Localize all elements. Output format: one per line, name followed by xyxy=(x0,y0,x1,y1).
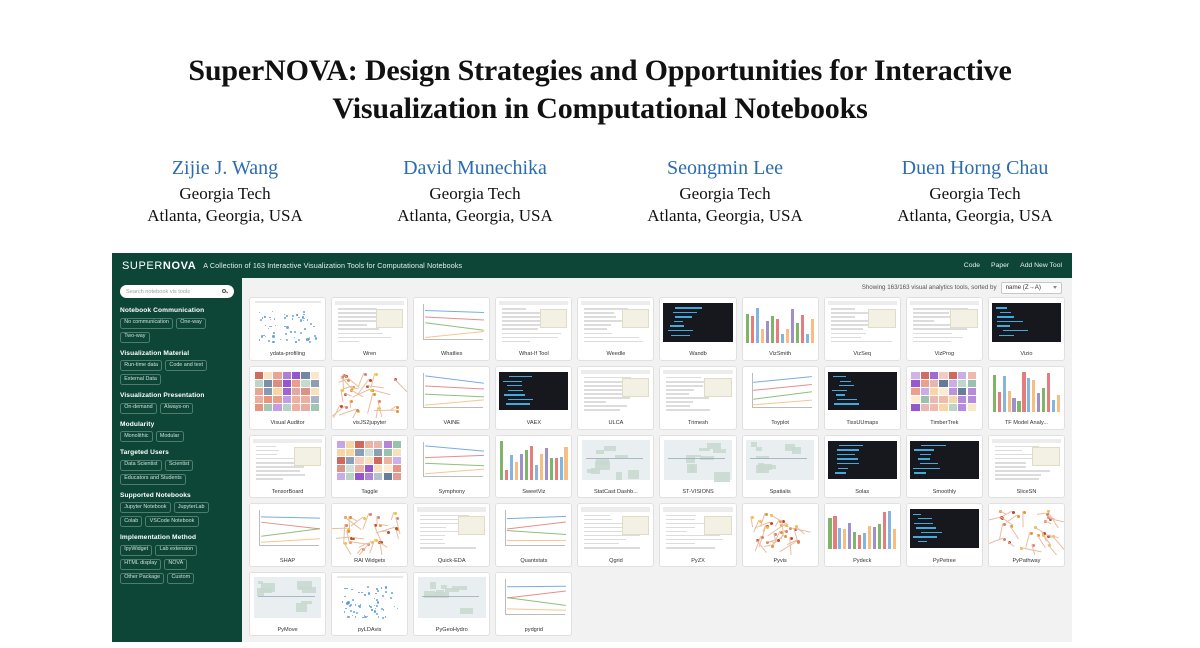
tool-card[interactable]: pyLDAvis xyxy=(331,572,408,636)
tool-card[interactable]: Trimesh xyxy=(659,366,736,430)
tool-thumbnail xyxy=(332,436,407,487)
tool-thumbnail xyxy=(496,504,571,555)
tool-card-label: What-If Tool xyxy=(496,349,571,360)
filter-group-title: Implementation Method xyxy=(120,534,234,541)
tool-card[interactable]: Quick-EDA xyxy=(413,503,490,567)
tool-card[interactable]: Wren xyxy=(331,297,408,361)
tool-card-label: Wren xyxy=(332,349,407,360)
tool-card-label: StatCast Dashb... xyxy=(578,486,653,497)
tool-card-label: TensorBoard xyxy=(250,486,325,497)
tool-thumbnail-wrap xyxy=(496,436,571,487)
tool-card-label: TissUUmaps xyxy=(825,418,900,429)
filter-group-title: Modularity xyxy=(120,421,234,428)
tool-thumbnail xyxy=(414,367,489,418)
app-tagline: A Collection of 163 Interactive Visualiz… xyxy=(203,261,462,270)
tool-card[interactable]: VizSmith xyxy=(742,297,819,361)
tool-card[interactable]: VizProg xyxy=(906,297,983,361)
filter-chip-list: Jupyter NotebookJupyterLabColabVSCode No… xyxy=(120,502,234,527)
tool-card[interactable]: ydata-profiling xyxy=(249,297,326,361)
author-block: David Munechika Georgia Tech Atlanta, Ge… xyxy=(350,155,600,227)
tool-thumbnail xyxy=(989,367,1064,418)
header-link-code[interactable]: Code xyxy=(964,262,980,269)
tool-thumbnail xyxy=(989,436,1064,487)
filter-chip[interactable]: Scientist xyxy=(165,460,194,471)
tool-card[interactable]: TimberTrek xyxy=(906,366,983,430)
filter-group: Visualization MaterialRun-time dataCode … xyxy=(120,350,234,386)
tool-card-label: visJS2jupyter xyxy=(332,418,407,429)
logo-nova: NOVA xyxy=(163,260,196,272)
tool-card[interactable]: Qgrid xyxy=(577,503,654,567)
tool-thumbnail-wrap xyxy=(332,573,407,624)
tool-card-label: PyZX xyxy=(660,555,735,566)
tool-thumbnail-wrap xyxy=(907,298,982,349)
tool-thumbnail xyxy=(743,367,818,418)
author-block: Zijie J. Wang Georgia Tech Atlanta, Geor… xyxy=(100,155,350,227)
tool-thumbnail-wrap xyxy=(250,298,325,349)
app-header: SUPERNOVA A Collection of 163 Interactiv… xyxy=(112,253,1072,278)
tool-thumbnail-wrap xyxy=(496,298,571,349)
tool-card-label: ydata-profiling xyxy=(250,349,325,360)
author-affiliation: Georgia Tech xyxy=(850,183,1100,205)
filter-group: Targeted UsersData ScientistScientistEdu… xyxy=(120,449,234,485)
filter-chip[interactable]: Monolithic xyxy=(120,431,153,442)
tool-thumbnail xyxy=(660,367,735,418)
tool-thumbnail-wrap xyxy=(743,504,818,555)
author-location: Atlanta, Georgia, USA xyxy=(100,205,350,227)
tool-card[interactable]: PyPetree xyxy=(906,503,983,567)
author-name: David Munechika xyxy=(350,155,600,182)
filter-chip[interactable]: Data Scientist xyxy=(120,460,162,471)
tool-card-label: PyPathway xyxy=(989,555,1064,566)
filter-group-title: Visualization Material xyxy=(120,350,234,357)
tool-card-label: VAINE xyxy=(414,418,489,429)
tool-thumbnail xyxy=(578,504,653,555)
tool-card-label: SliceSN xyxy=(989,486,1064,497)
tool-card[interactable]: Pydeck xyxy=(824,503,901,567)
tool-card[interactable]: Visual Auditor xyxy=(249,366,326,430)
tool-thumbnail-wrap xyxy=(578,504,653,555)
tool-thumbnail xyxy=(250,367,325,418)
tool-card[interactable]: Vizio xyxy=(988,297,1065,361)
tool-thumbnail xyxy=(496,298,571,349)
tool-card[interactable]: ULCA xyxy=(577,366,654,430)
filter-group-title: Supported Notebooks xyxy=(120,492,234,499)
tool-card-label: Spatialis xyxy=(743,486,818,497)
filter-group-title: Visualization Presentation xyxy=(120,392,234,399)
paper-header: SuperNOVA: Design Strategies and Opportu… xyxy=(0,0,1200,227)
tool-card[interactable]: TensorBoard xyxy=(249,435,326,499)
tool-thumbnail xyxy=(743,504,818,555)
tool-card[interactable]: Toyplot xyxy=(742,366,819,430)
tool-thumbnail xyxy=(825,436,900,487)
logo-super: SUPER xyxy=(122,260,163,272)
tool-thumbnail-wrap xyxy=(989,436,1064,487)
filter-chip[interactable]: Jupyter Notebook xyxy=(120,502,171,513)
tool-thumbnail xyxy=(414,573,489,624)
tool-card-label: Weedle xyxy=(578,349,653,360)
filter-sidebar: Search notebook vis tools Notebook Commu… xyxy=(112,278,242,642)
tool-card-label: Trimesh xyxy=(660,418,735,429)
tool-card[interactable]: TF Model Analy... xyxy=(988,366,1065,430)
tool-card[interactable]: PyMove xyxy=(249,572,326,636)
tool-card-label: VizSmith xyxy=(743,349,818,360)
filter-group-title: Notebook Communication xyxy=(120,307,234,314)
tool-card[interactable]: Weedle xyxy=(577,297,654,361)
tool-thumbnail xyxy=(332,504,407,555)
tool-card[interactable]: PyPathway xyxy=(988,503,1065,567)
tool-thumbnail-wrap xyxy=(825,436,900,487)
tool-thumbnail xyxy=(578,367,653,418)
filter-chip-list: On-demandAlways-on xyxy=(120,403,234,414)
tool-thumbnail-wrap xyxy=(332,436,407,487)
header-links: Code Paper Add New Tool xyxy=(964,262,1062,269)
tool-thumbnail xyxy=(743,298,818,349)
filter-chip[interactable]: Educators and Students xyxy=(120,474,186,485)
tool-thumbnail-wrap xyxy=(414,436,489,487)
tool-card-label: Taggle xyxy=(332,486,407,497)
author-affiliation: Georgia Tech xyxy=(350,183,600,205)
tool-thumbnail xyxy=(250,504,325,555)
tool-card[interactable]: ST-VISIONS xyxy=(659,435,736,499)
tool-thumbnail xyxy=(578,298,653,349)
tool-thumbnail-wrap xyxy=(578,367,653,418)
tool-thumbnail-wrap xyxy=(907,436,982,487)
tool-thumbnail-wrap xyxy=(250,573,325,624)
tool-thumbnail xyxy=(825,367,900,418)
tool-card[interactable]: SweetViz xyxy=(495,435,572,499)
sort-select[interactable]: name (Z→A) xyxy=(1001,282,1062,294)
author-location: Atlanta, Georgia, USA xyxy=(350,205,600,227)
tool-thumbnail xyxy=(332,573,407,624)
tool-thumbnail-wrap xyxy=(250,367,325,418)
tool-thumbnail xyxy=(907,504,982,555)
tool-card-label: ULCA xyxy=(578,418,653,429)
author-affiliation: Georgia Tech xyxy=(600,183,850,205)
tool-thumbnail-wrap xyxy=(496,367,571,418)
app-body: Search notebook vis tools Notebook Commu… xyxy=(112,278,1072,642)
tool-thumbnail xyxy=(907,436,982,487)
tool-card[interactable]: VAEX xyxy=(495,366,572,430)
tool-thumbnail xyxy=(250,436,325,487)
author-name: Duen Horng Chau xyxy=(850,155,1100,182)
tool-thumbnail-wrap xyxy=(414,573,489,624)
filter-chip-list: Data ScientistScientistEducators and Stu… xyxy=(120,460,234,485)
filter-chip[interactable]: Modular xyxy=(156,431,184,442)
tool-thumbnail-wrap xyxy=(660,504,735,555)
tool-card-label: Solas xyxy=(825,486,900,497)
tool-card-label: PyPetree xyxy=(907,555,982,566)
author-name: Zijie J. Wang xyxy=(100,155,350,182)
tool-card[interactable]: Pyvis xyxy=(742,503,819,567)
tool-card-label: Quantstats xyxy=(496,555,571,566)
tool-thumbnail-wrap xyxy=(496,573,571,624)
filter-group: Supported NotebooksJupyter NotebookJupyt… xyxy=(120,492,234,528)
tool-card[interactable]: Whatlies xyxy=(413,297,490,361)
filter-chip[interactable]: IpyWidget xyxy=(120,545,152,556)
tool-thumbnail-wrap xyxy=(907,504,982,555)
filter-chip[interactable]: Colab xyxy=(120,516,142,527)
tool-thumbnail-wrap xyxy=(414,367,489,418)
tool-thumbnail xyxy=(250,298,325,349)
tool-thumbnail-wrap xyxy=(660,367,735,418)
tool-thumbnail-wrap xyxy=(578,298,653,349)
search-placeholder: Search notebook vis tools xyxy=(126,289,222,295)
tool-thumbnail-wrap xyxy=(578,436,653,487)
filter-chip[interactable]: JupyterLab xyxy=(174,502,209,513)
tool-thumbnail-wrap xyxy=(825,367,900,418)
tool-card-label: Whatlies xyxy=(414,349,489,360)
tool-thumbnail xyxy=(250,573,325,624)
app-logo: SUPERNOVA xyxy=(122,260,196,272)
author-location: Atlanta, Georgia, USA xyxy=(600,205,850,227)
tool-card-label: Quick-EDA xyxy=(414,555,489,566)
tool-thumbnail xyxy=(907,298,982,349)
tool-thumbnail xyxy=(825,504,900,555)
tool-thumbnail xyxy=(578,436,653,487)
tool-thumbnail xyxy=(660,504,735,555)
tool-thumbnail-wrap xyxy=(989,367,1064,418)
tool-card-label: SHAP xyxy=(250,555,325,566)
filter-chip[interactable]: Run-time data xyxy=(120,360,162,371)
filter-group: Notebook CommunicationNo communicationOn… xyxy=(120,307,234,343)
filter-chip[interactable]: Always-on xyxy=(160,403,193,414)
tool-thumbnail xyxy=(907,367,982,418)
author-list: Zijie J. Wang Georgia Tech Atlanta, Geor… xyxy=(80,155,1120,227)
filter-chip[interactable]: HTML display xyxy=(120,559,161,570)
tool-card[interactable]: Quantstats xyxy=(495,503,572,567)
tool-card[interactable]: PyGeoHydro xyxy=(413,572,490,636)
tool-thumbnail-wrap xyxy=(989,298,1064,349)
tool-card-label: VAEX xyxy=(496,418,571,429)
tool-card-label: Pydeck xyxy=(825,555,900,566)
tool-card-label: Smoothly xyxy=(907,486,982,497)
filter-chip[interactable]: Two-way xyxy=(120,332,150,343)
tool-card-label: Symphony xyxy=(414,486,489,497)
tool-thumbnail-wrap xyxy=(989,504,1064,555)
tool-card[interactable]: pydgrid xyxy=(495,572,572,636)
tool-card-label: SweetViz xyxy=(496,486,571,497)
filter-group: Implementation MethodIpyWidgetLab extens… xyxy=(120,534,234,584)
tool-card-label: ST-VISIONS xyxy=(660,486,735,497)
teaser-figure: SUPERNOVA A Collection of 163 Interactiv… xyxy=(112,253,1072,642)
tool-thumbnail-wrap xyxy=(825,298,900,349)
author-location: Atlanta, Georgia, USA xyxy=(850,205,1100,227)
filter-chip[interactable]: VSCode Notebook xyxy=(145,516,198,527)
search-input[interactable]: Search notebook vis tools xyxy=(120,285,234,298)
tool-thumbnail-wrap xyxy=(332,298,407,349)
tool-card-label: PyMove xyxy=(250,624,325,635)
tool-thumbnail xyxy=(989,504,1064,555)
tool-thumbnail xyxy=(332,298,407,349)
tool-card-label: TimberTrek xyxy=(907,418,982,429)
tool-card[interactable]: StatCast Dashb... xyxy=(577,435,654,499)
tool-card[interactable]: Symphony xyxy=(413,435,490,499)
filter-group: Visualization PresentationOn-demandAlway… xyxy=(120,392,234,414)
tool-thumbnail xyxy=(496,436,571,487)
tool-thumbnail xyxy=(496,573,571,624)
tool-thumbnail-wrap xyxy=(250,436,325,487)
tool-gallery: Showing 163/163 visual analytics tools, … xyxy=(242,278,1072,642)
author-name: Seongmin Lee xyxy=(600,155,850,182)
tool-card-label: VizProg xyxy=(907,349,982,360)
tool-card-label: Vizio xyxy=(989,349,1064,360)
tool-card-label: RAI Widgets xyxy=(332,555,407,566)
result-count-text: Showing 163/163 visual analytics tools, … xyxy=(862,284,997,291)
tool-thumbnail xyxy=(660,298,735,349)
tool-thumbnail xyxy=(989,298,1064,349)
filter-chip[interactable]: No communication xyxy=(120,318,173,329)
tool-thumbnail-wrap xyxy=(743,298,818,349)
tool-card[interactable]: visJS2jupyter xyxy=(331,366,408,430)
filter-chip-list: No communicationOne-wayTwo-way xyxy=(120,318,234,343)
tool-card[interactable]: Spatialis xyxy=(742,435,819,499)
header-link-paper[interactable]: Paper xyxy=(991,262,1009,269)
tool-card[interactable]: Smoothly xyxy=(906,435,983,499)
tool-thumbnail-wrap xyxy=(743,367,818,418)
tool-card[interactable]: Wandb xyxy=(659,297,736,361)
title-line-2: Visualization in Computational Notebooks xyxy=(90,90,1110,128)
tool-thumbnail-wrap xyxy=(250,504,325,555)
tool-thumbnail-wrap xyxy=(907,367,982,418)
header-link-add-new-tool[interactable]: Add New Tool xyxy=(1020,262,1062,269)
tool-thumbnail-wrap xyxy=(660,436,735,487)
sort-select-value: name (Z→A) xyxy=(1006,284,1041,291)
tool-card-label: pyLDAvis xyxy=(332,624,407,635)
tool-thumbnail-wrap xyxy=(660,298,735,349)
sort-bar: Showing 163/163 visual analytics tools, … xyxy=(242,278,1072,297)
title-line-1: SuperNOVA: Design Strategies and Opportu… xyxy=(90,52,1110,90)
chevron-down-icon xyxy=(1053,286,1057,289)
tool-thumbnail-wrap xyxy=(743,436,818,487)
tool-card[interactable]: Solas xyxy=(824,435,901,499)
tool-card[interactable]: SliceSN xyxy=(988,435,1065,499)
filter-chip-list: IpyWidgetLab extensionHTML displayNOVAOt… xyxy=(120,545,234,584)
tool-thumbnail xyxy=(414,436,489,487)
tool-card[interactable]: SHAP xyxy=(249,503,326,567)
tool-card[interactable]: PyZX xyxy=(659,503,736,567)
filter-chip[interactable]: NOVA xyxy=(164,559,187,570)
search-icon xyxy=(222,289,228,295)
filter-group-title: Targeted Users xyxy=(120,449,234,456)
tool-thumbnail xyxy=(825,298,900,349)
tool-thumbnail xyxy=(414,298,489,349)
tool-thumbnail-wrap xyxy=(332,504,407,555)
tool-card-label: VizSeq xyxy=(825,349,900,360)
tool-card-label: PyGeoHydro xyxy=(414,624,489,635)
tool-card-label: Pyvis xyxy=(743,555,818,566)
filter-chip[interactable]: Other Package xyxy=(120,573,164,584)
tool-card[interactable]: RAI Widgets xyxy=(331,503,408,567)
filter-chip[interactable]: External Data xyxy=(120,374,161,385)
filter-chip-list: MonolithicModular xyxy=(120,431,234,442)
page-title: SuperNOVA: Design Strategies and Opportu… xyxy=(90,52,1110,129)
filter-chip[interactable]: Code and text xyxy=(165,360,207,371)
filter-chip[interactable]: On-demand xyxy=(120,403,157,414)
tool-thumbnail-wrap xyxy=(414,504,489,555)
tool-thumbnail-wrap xyxy=(414,298,489,349)
filter-group: ModularityMonolithicModular xyxy=(120,421,234,443)
tool-card-label: pydgrid xyxy=(496,624,571,635)
tool-card-label: Toyplot xyxy=(743,418,818,429)
tool-thumbnail-wrap xyxy=(332,367,407,418)
tool-card[interactable]: VizSeq xyxy=(824,297,901,361)
tool-card-grid: ydata-profilingWrenWhatliesWhat-If ToolW… xyxy=(242,297,1072,642)
tool-thumbnail-wrap xyxy=(825,504,900,555)
tool-thumbnail xyxy=(332,367,407,418)
tool-thumbnail xyxy=(496,367,571,418)
author-affiliation: Georgia Tech xyxy=(100,183,350,205)
author-block: Seongmin Lee Georgia Tech Atlanta, Georg… xyxy=(600,155,850,227)
filter-chip-list: Run-time dataCode and textExternal Data xyxy=(120,360,234,385)
filter-chip[interactable]: Custom xyxy=(167,573,194,584)
tool-card[interactable]: What-If Tool xyxy=(495,297,572,361)
author-block: Duen Horng Chau Georgia Tech Atlanta, Ge… xyxy=(850,155,1100,227)
tool-card[interactable]: TissUUmaps xyxy=(824,366,901,430)
tool-card-label: Visual Auditor xyxy=(250,418,325,429)
tool-thumbnail-wrap xyxy=(496,504,571,555)
tool-card[interactable]: VAINE xyxy=(413,366,490,430)
tool-thumbnail xyxy=(743,436,818,487)
filter-chip[interactable]: Lab extension xyxy=(155,545,197,556)
tool-card-label: Qgrid xyxy=(578,555,653,566)
tool-card-label: Wandb xyxy=(660,349,735,360)
tool-card-label: TF Model Analy... xyxy=(989,418,1064,429)
filter-chip[interactable]: One-way xyxy=(176,318,206,329)
tool-thumbnail xyxy=(414,504,489,555)
tool-card[interactable]: Taggle xyxy=(331,435,408,499)
tool-thumbnail xyxy=(660,436,735,487)
filter-groups: Notebook CommunicationNo communicationOn… xyxy=(120,307,234,584)
